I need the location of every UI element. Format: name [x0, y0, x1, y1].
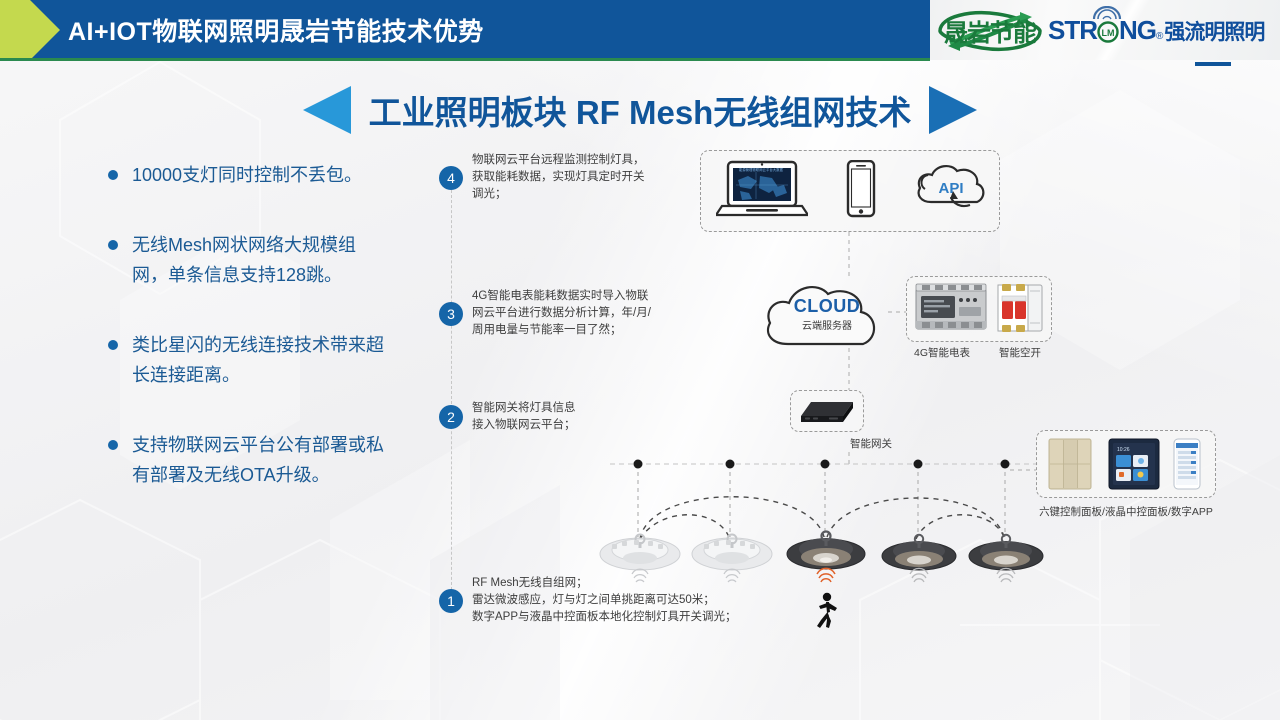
section-title-row: 工业照明板块 RF Mesh无线组网技术: [0, 86, 1280, 134]
lamp-icon-active: [784, 526, 868, 588]
smart-meter-icon: [915, 283, 987, 335]
bullet-dot-icon: [108, 340, 118, 350]
bullet-dot-icon: [108, 170, 118, 180]
logo-chinese-subtitle: 强流明照明: [1164, 16, 1264, 46]
step-number-badge: 4: [439, 166, 463, 190]
cloud-label: CLOUD: [762, 296, 892, 317]
brand-logo: 晟岩节能 STR LM NG ® 强流明照明: [938, 8, 1264, 52]
bullet-text: 10000支灯同时控制不丢包。: [132, 160, 362, 190]
laptop-dashboard-label: 能源管理物联网云平台大数据: [729, 167, 793, 172]
bullet-text: 支持物联网云平台公有部署或私有部署及无线OTA升级。: [132, 430, 386, 490]
smart-breaker-icon: [996, 283, 1044, 335]
control-panels-caption: 六键控制面板/液晶中控面板/数字APP: [1036, 504, 1216, 519]
logo-registered-mark: ®: [1156, 31, 1163, 42]
bullet-dot-icon: [108, 440, 118, 450]
logo-chinese-mark: 晟岩节能: [938, 13, 1042, 48]
logo-strong-suffix: NG: [1119, 15, 1156, 46]
cloud-sublabel: 云端服务器: [762, 317, 892, 332]
step-number-badge: 2: [439, 405, 463, 429]
smartphone-icon: [845, 160, 877, 218]
step-number-badge: 3: [439, 302, 463, 326]
lamp-icon: [964, 528, 1048, 590]
logo-chinese-text: 晟岩节能: [944, 20, 1036, 47]
bullet-text: 无线Mesh网状网络大规模组网，单条信息支持128跳。: [132, 230, 386, 290]
slide-header: AI+IOT物联网照明晟岩节能技术优势 晟岩节能 STR: [0, 0, 1280, 60]
list-item: 支持物联网云平台公有部署或私有部署及无线OTA升级。: [108, 430, 386, 490]
lcd-control-panel-icon: 10:26: [1108, 438, 1160, 490]
step-item-2: 2 智能网关将灯具信息 接入物联网云平台；: [439, 400, 689, 434]
bullet-text: 类比星闪的无线连接技术带来超长连接距离。: [132, 330, 386, 390]
gateway-icon: [797, 396, 857, 426]
step-item-4: 4 物联网云平台远程监测控制灯具， 获取能耗数据，实现灯具定时开关 调光；: [439, 152, 689, 203]
logo-strong-lockup: STR LM NG ® 强流明照明: [1048, 15, 1264, 46]
svg-text:10:26: 10:26: [1117, 447, 1130, 453]
triangle-right-icon: [929, 86, 977, 134]
meter-caption: 4G智能电表: [903, 345, 981, 360]
triangle-left-icon: [303, 86, 351, 134]
gateway-caption: 智能网关: [834, 436, 908, 451]
svg-text:LM: LM: [1102, 28, 1115, 38]
list-item: 10000支灯同时控制不丢包。: [108, 160, 386, 190]
header-blue-tick: [1195, 62, 1231, 66]
api-label: API: [925, 180, 977, 197]
step-description: 物联网云平台远程监测控制灯具， 获取能耗数据，实现灯具定时开关 调光；: [472, 152, 645, 203]
header-green-underline: [0, 58, 930, 61]
list-item: 类比星闪的无线连接技术带来超长连接距离。: [108, 330, 386, 390]
list-item: 无线Mesh网状网络大规模组网，单条信息支持128跳。: [108, 230, 386, 290]
walking-person-icon: [812, 592, 840, 630]
step-description: 4G智能电表能耗数据实时导入物联 网云平台进行数据分析计算，年/月/ 周用电量与…: [472, 288, 651, 339]
page-title: AI+IOT物联网照明晟岩节能技术优势: [68, 12, 484, 48]
six-key-panel-icon: [1048, 438, 1092, 490]
breaker-caption: 智能空开: [981, 345, 1059, 360]
step-item-1: 1 RF Mesh无线自组网； 雷达微波感应，灯与灯之间单挑距离可达50米； 数…: [439, 575, 769, 626]
logo-strong-prefix: STR: [1048, 15, 1097, 46]
feature-bullet-list: 10000支灯同时控制不丢包。 无线Mesh网状网络大规模组网，单条信息支持12…: [108, 160, 386, 530]
step-description: RF Mesh无线自组网； 雷达微波感应，灯与灯之间单挑距离可达50米； 数字A…: [472, 575, 737, 626]
bullet-dot-icon: [108, 240, 118, 250]
cloud-server-node: CLOUD 云端服务器: [762, 277, 892, 349]
section-title: 工业照明板块 RF Mesh无线组网技术: [369, 86, 912, 134]
digital-app-phone-icon: [1172, 438, 1202, 490]
lamp-icon: [877, 528, 961, 590]
step-item-3: 3 4G智能电表能耗数据实时导入物联 网云平台进行数据分析计算，年/月/ 周用电…: [439, 288, 689, 339]
step-number-badge: 1: [439, 589, 463, 613]
step-description: 智能网关将灯具信息 接入物联网云平台；: [472, 400, 576, 434]
logo-lm-badge-icon: LM: [1097, 17, 1119, 39]
